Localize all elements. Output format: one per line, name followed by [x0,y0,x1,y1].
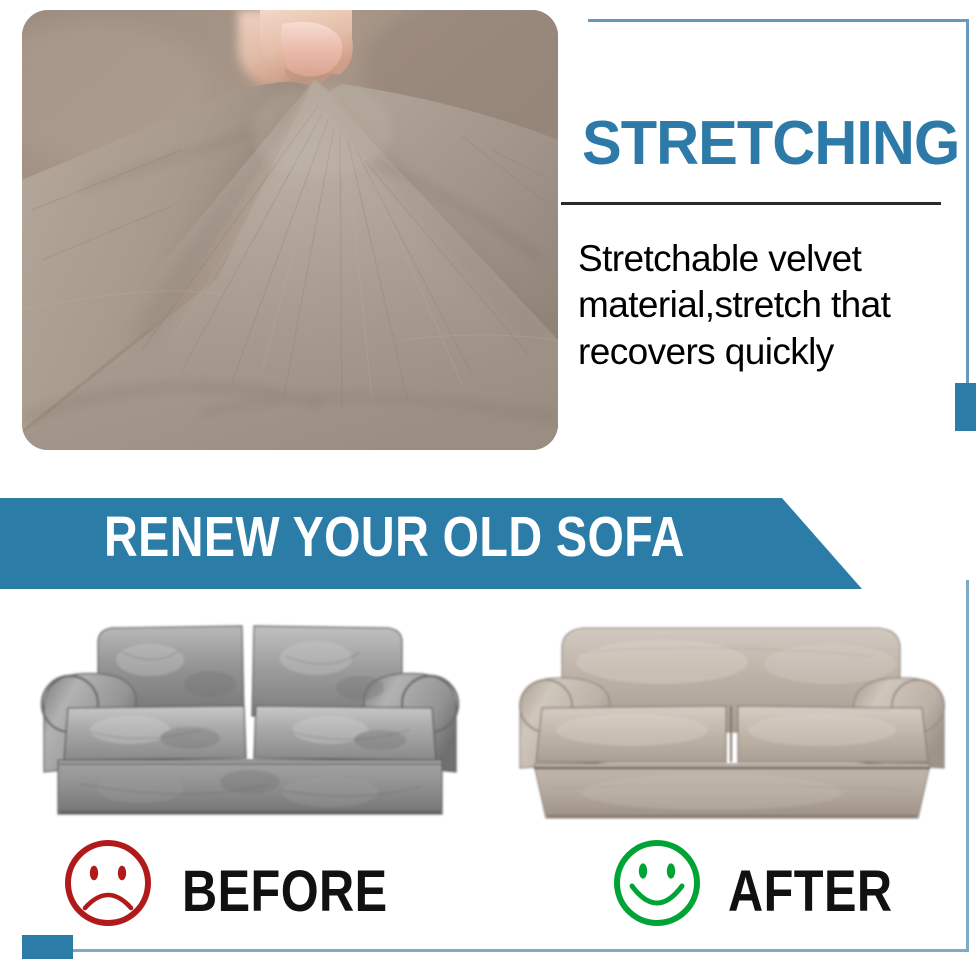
headline-divider-rule [561,202,941,205]
decorative-line-bottom [72,949,969,952]
before-sofa-image [30,612,470,827]
decorative-block-right [955,383,976,431]
decorative-line-right-lower [966,580,969,952]
product-infographic-page: STRETCHING Stretchable velvet material,s… [0,0,980,964]
feature-headline: STRETCHING [582,113,959,175]
sad-face-icon [61,838,155,928]
velvet-fabric-photo [22,10,558,450]
decorative-line-right-upper [966,19,969,387]
before-label: BEFORE [182,863,388,921]
decorative-block-bottom-left [22,935,73,959]
after-label: AFTER [728,863,892,921]
feature-description: Stretchable velvet material,stretch that… [578,236,938,375]
happy-face-icon [610,838,704,928]
decorative-line-top [588,19,969,22]
after-sofa-image [512,612,952,827]
renew-banner-title: RENEW YOUR OLD SOFA [104,509,685,566]
